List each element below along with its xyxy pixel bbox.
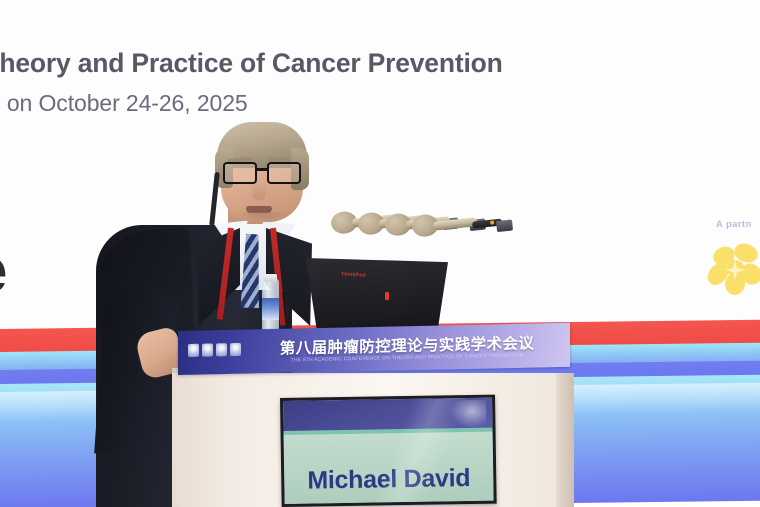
speaker-name-display: Michael David xyxy=(280,395,497,507)
laptop-brand-label: ThinkPad xyxy=(341,272,366,279)
organizer-logo-4 xyxy=(230,342,241,355)
organizer-logo-1 xyxy=(188,343,199,356)
nose xyxy=(252,182,266,200)
slide-title-line-2: iazhuang on October 24-26, 2025 xyxy=(0,90,760,117)
eyeglasses xyxy=(220,162,306,184)
organizer-logo-2 xyxy=(202,343,213,356)
slide-title-line-1: ce on Theory and Practice of Cancer Prev… xyxy=(0,48,760,79)
lens-left xyxy=(223,162,257,184)
mic-base xyxy=(496,219,513,232)
chin-shadow xyxy=(234,212,290,224)
conference-photo: ce on Theory and Practice of Cancer Prev… xyxy=(0,0,760,507)
podium-banner-logos xyxy=(188,340,242,359)
podium-right-edge xyxy=(556,373,574,507)
name-screen-surface: Michael David xyxy=(283,398,494,504)
partner-label: A partn xyxy=(716,219,752,230)
laptop-indicator-light xyxy=(385,292,389,300)
slide-left-glyph: e xyxy=(0,238,8,302)
water-bottle-cap xyxy=(264,274,277,282)
water-bottle-label xyxy=(262,298,279,320)
organizer-logo-3 xyxy=(216,343,227,356)
flower-icon xyxy=(706,240,760,296)
lens-right xyxy=(267,162,301,184)
speaker-name-text: Michael David xyxy=(284,464,493,496)
